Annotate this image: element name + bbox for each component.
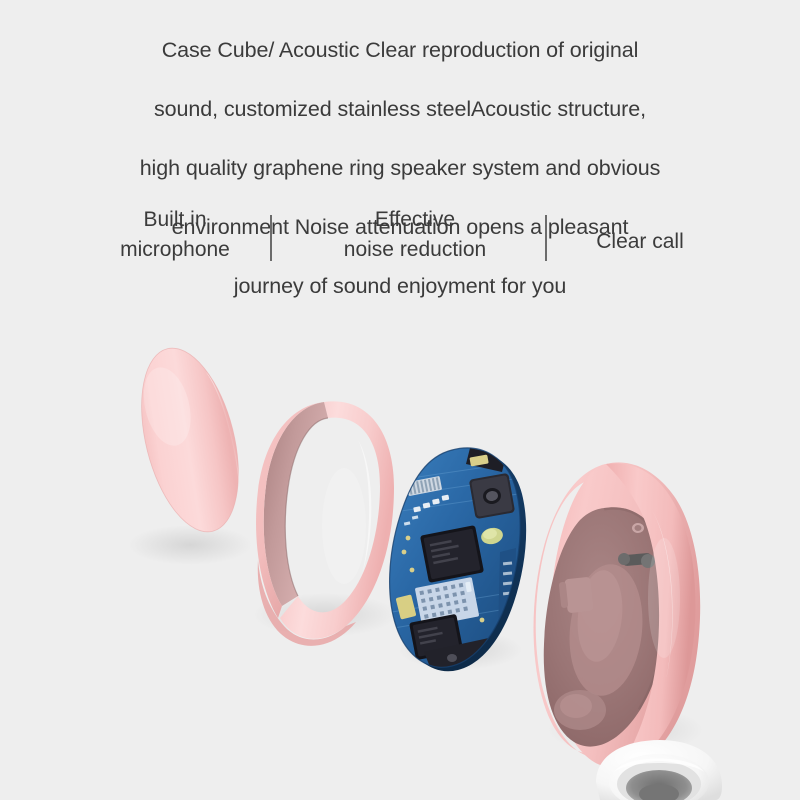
feature-divider (545, 215, 547, 261)
case-cover-part (125, 338, 256, 542)
product-exploded-view (0, 330, 800, 800)
feature-effective-noise-reduction: Effective noise reduction (300, 205, 530, 265)
ring-inner-cavity (264, 402, 328, 606)
shadow-cover (128, 525, 252, 565)
feature-clear-call: Clear call (560, 227, 720, 257)
feature-built-in-microphone: Built in microphone (85, 205, 265, 265)
housing-soft-highlight (648, 538, 680, 658)
ring-soft-highlight (322, 468, 366, 584)
description-line: sound, customized stainless steelAcousti… (0, 95, 800, 125)
description-line: high quality graphene ring speaker syste… (0, 154, 800, 184)
feature-divider (270, 215, 272, 261)
feature-highlights-row: Built in microphone Effective noise redu… (0, 205, 800, 285)
pcb-shield-can (469, 473, 515, 519)
description-line: Case Cube/ Acoustic Clear reproduction o… (0, 36, 800, 66)
cavity-module-block (564, 577, 593, 614)
